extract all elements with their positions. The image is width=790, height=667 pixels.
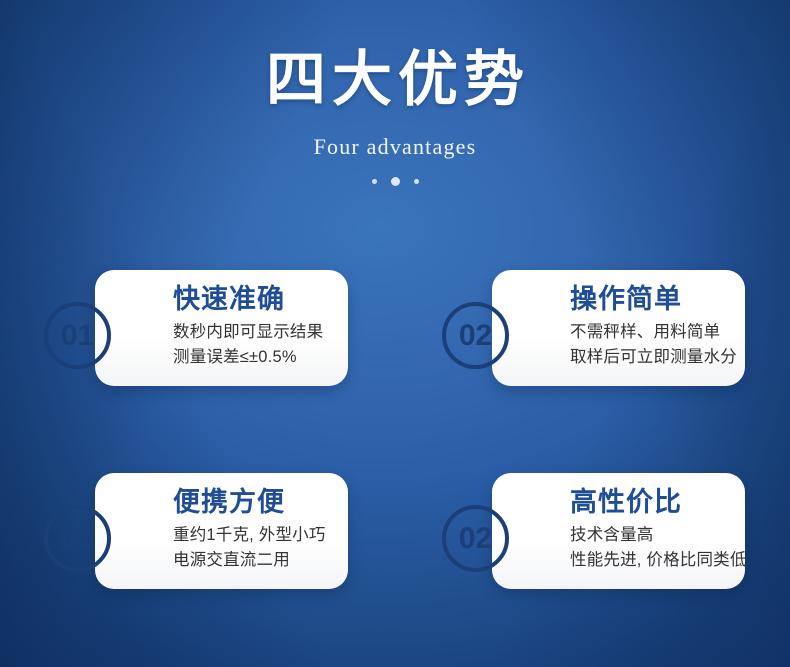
page-title: 四大优势 bbox=[0, 44, 790, 116]
advantage-card-3-number: 03 bbox=[61, 524, 94, 554]
advantage-card-1-body: 数秒内即可显示结果 测量误差≤±0.5% bbox=[173, 320, 336, 370]
advantage-card-4-content: 高性价比 技术含量高 性能先进, 价格比同类低 bbox=[570, 487, 733, 573]
advantages-poster: 四大优势 Four advantages 快速准确 数秒内即可显示结果 测量误差… bbox=[0, 0, 790, 667]
advantage-card-3-line-1: 重约1千克, 外型小巧 bbox=[173, 523, 336, 548]
advantage-card-4-line-2: 性能先进, 价格比同类低 bbox=[570, 548, 733, 573]
advantage-card-1-line-2: 测量误差≤±0.5% bbox=[173, 345, 336, 370]
advantage-card-2-line-1: 不需秤样、用料简单 bbox=[570, 320, 733, 345]
advantage-card-3-title: 便携方便 bbox=[173, 487, 336, 518]
advantage-card-2-body: 不需秤样、用料简单 取样后可立即测量水分 bbox=[570, 320, 733, 370]
advantage-card-2-number: 02 bbox=[459, 321, 492, 351]
advantage-card-4: 高性价比 技术含量高 性能先进, 价格比同类低 bbox=[492, 473, 745, 589]
advantage-card-4-line-1: 技术含量高 bbox=[570, 523, 733, 548]
advantage-card-4-number-badge: 02 bbox=[442, 505, 509, 572]
advantage-card-3-line-2: 电源交直流二用 bbox=[173, 548, 336, 573]
advantage-card-1-content: 快速准确 数秒内即可显示结果 测量误差≤±0.5% bbox=[173, 284, 336, 370]
page-subtitle: Four advantages bbox=[0, 132, 790, 162]
advantage-card-2-content: 操作简单 不需秤样、用料简单 取样后可立即测量水分 bbox=[570, 284, 733, 370]
advantage-card-4-number: 02 bbox=[459, 524, 492, 554]
advantage-card-1-title: 快速准确 bbox=[173, 284, 336, 315]
advantage-card-4-body: 技术含量高 性能先进, 价格比同类低 bbox=[570, 523, 733, 573]
advantage-card-3: 便携方便 重约1千克, 外型小巧 电源交直流二用 bbox=[95, 473, 348, 589]
advantage-card-2-number-badge: 02 bbox=[442, 302, 509, 369]
advantage-card-2-line-2: 取样后可立即测量水分 bbox=[570, 345, 733, 370]
separator-dot-center bbox=[391, 177, 400, 186]
advantage-card-4-title: 高性价比 bbox=[570, 487, 733, 518]
advantage-card-3-number-badge: 03 bbox=[44, 505, 111, 572]
separator-dot-left bbox=[372, 179, 377, 184]
advantage-card-1-line-1: 数秒内即可显示结果 bbox=[173, 320, 336, 345]
header: 四大优势 Four advantages bbox=[0, 44, 790, 186]
advantage-card-1-number-badge: 01 bbox=[44, 302, 111, 369]
dot-separator bbox=[0, 176, 790, 186]
advantage-card-1: 快速准确 数秒内即可显示结果 测量误差≤±0.5% bbox=[95, 270, 348, 386]
advantage-card-2: 操作简单 不需秤样、用料简单 取样后可立即测量水分 bbox=[492, 270, 745, 386]
advantage-card-2-title: 操作简单 bbox=[570, 284, 733, 315]
advantage-card-1-number: 01 bbox=[61, 321, 94, 351]
advantage-card-3-content: 便携方便 重约1千克, 外型小巧 电源交直流二用 bbox=[173, 487, 336, 573]
advantage-card-3-body: 重约1千克, 外型小巧 电源交直流二用 bbox=[173, 523, 336, 573]
separator-dot-right bbox=[414, 179, 419, 184]
